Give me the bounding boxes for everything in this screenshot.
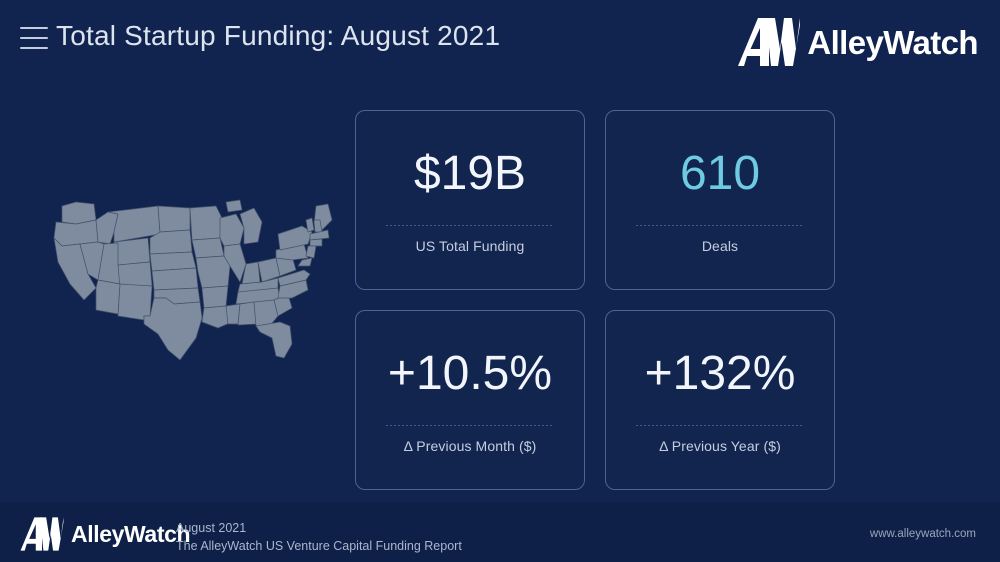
header-logo[interactable]: AlleyWatch [738,16,978,68]
stat-card-us-total-funding[interactable]: $19B US Total Funding [355,110,585,290]
stat-label: Deals [702,238,738,254]
hamburger-line-3 [20,47,48,49]
stat-card-deals[interactable]: 610 Deals [605,110,835,290]
united-states-map [40,198,340,393]
page-title: Total Startup Funding: August 2021 [56,20,500,52]
stat-label: Δ Previous Year ($) [659,438,781,454]
stat-value: $19B [414,148,526,200]
footer: AlleyWatch August 2021 The AlleyWatch US… [0,502,1000,562]
header-logo-text: AlleyWatch [807,26,978,59]
footer-website-url[interactable]: www.alleywatch.com [870,528,976,540]
aw-monogram-icon [20,516,64,552]
stat-card-previous-month[interactable]: +10.5% Δ Previous Month ($) [355,310,585,490]
stat-label: Δ Previous Month ($) [404,438,537,454]
card-divider [386,425,554,426]
card-divider [636,225,804,226]
footer-period: August 2021 [176,519,462,537]
stat-card-previous-year[interactable]: +132% Δ Previous Year ($) [605,310,835,490]
hamburger-menu-icon[interactable] [20,27,48,49]
stat-value: +10.5% [388,348,552,400]
footer-logo-text: AlleyWatch [71,523,190,546]
aw-monogram-icon [738,16,800,68]
stat-card-grid: $19B US Total Funding 610 Deals +10.5% Δ… [355,110,835,490]
footer-report-info: August 2021 The AlleyWatch US Venture Ca… [176,519,462,555]
hamburger-line-1 [20,27,48,29]
slide-root: Total Startup Funding: August 2021 Alley… [0,0,1000,562]
card-divider [636,425,804,426]
footer-report-title: The AlleyWatch US Venture Capital Fundin… [176,537,462,555]
us-map-svg [40,198,340,393]
stat-label: US Total Funding [416,238,525,254]
hamburger-line-2 [20,37,48,39]
card-divider [386,225,554,226]
header: Total Startup Funding: August 2021 Alley… [0,0,1000,80]
stat-value: 610 [680,148,760,200]
footer-logo[interactable]: AlleyWatch [20,516,190,552]
stat-value: +132% [645,348,796,400]
